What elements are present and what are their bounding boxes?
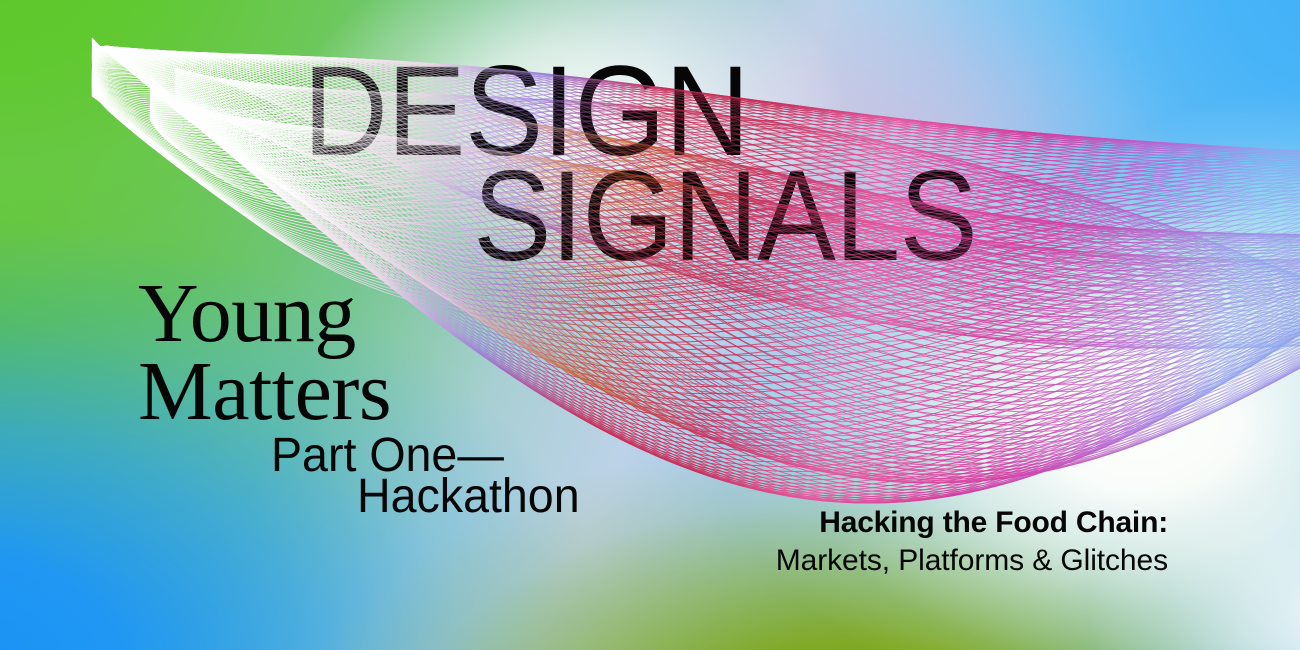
typography-layer: DESIGN SIGNALS Young Matters Part One— H… <box>0 0 1300 650</box>
topic-headline: Hacking the Food Chain: <box>819 508 1168 538</box>
subject-line-young: Young <box>138 272 356 356</box>
topic-subtitle: Markets, Platforms & Glitches <box>776 546 1168 576</box>
subject-line-matters: Matters <box>138 350 391 434</box>
part-line-hackathon: Hackathon <box>357 473 580 521</box>
poster-canvas: DESIGN SIGNALS Young Matters Part One— H… <box>0 0 1300 650</box>
headline-line-signals: SIGNALS <box>473 153 977 281</box>
